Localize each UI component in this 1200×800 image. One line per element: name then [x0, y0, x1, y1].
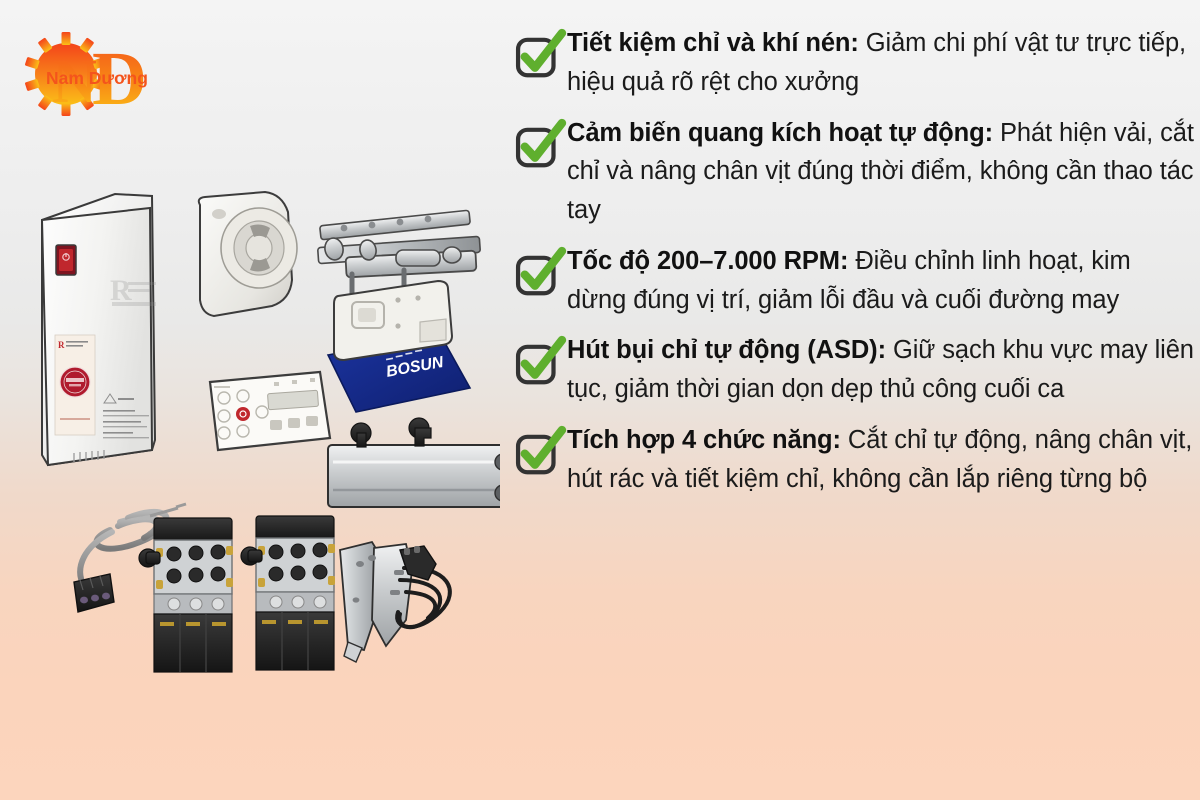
poster-canvas: D N Nam Dương [0, 0, 1200, 800]
svg-text:R: R [58, 340, 65, 350]
feature-lead: Tốc độ 200–7.000 RPM: [567, 247, 848, 275]
panel-display [268, 390, 319, 409]
operation-panel [210, 372, 330, 450]
feature-item: Tốc độ 200–7.000 RPM: Điều chỉnh linh ho… [505, 240, 1195, 320]
feature-text: Tốc độ 200–7.000 RPM: Điều chỉnh linh ho… [567, 240, 1195, 320]
solenoid-valve-b [241, 516, 335, 670]
control-box: R R [42, 194, 156, 465]
feature-item: Hút bụi chỉ tự động (ASD): Giữ sạch khu … [505, 329, 1195, 409]
green-check-icon [505, 246, 567, 302]
feature-lead: Tích hợp 4 chức năng: [567, 426, 841, 454]
feature-lead: Hút bụi chỉ tự động (ASD): [567, 336, 886, 364]
feature-item: Tích hợp 4 chức năng: Cắt chỉ tự động, n… [505, 419, 1195, 499]
feature-list: Tiết kiệm chỉ và khí nén: Giảm chi phí v… [505, 22, 1195, 782]
logo-wordmark: Nam Dương [46, 68, 148, 88]
feature-item: Cảm biến quang kích hoạt tự động: Phát h… [505, 112, 1195, 230]
feature-lead: Tiết kiệm chỉ và khí nén: [567, 29, 859, 57]
feature-text: Tiết kiệm chỉ và khí nén: Giảm chi phí v… [567, 22, 1195, 102]
feature-text: Cảm biến quang kích hoạt tự động: Phát h… [567, 112, 1195, 230]
green-check-icon [505, 118, 567, 174]
green-check-icon [505, 335, 567, 391]
feature-item: Tiết kiệm chỉ và khí nén: Giảm chi phí v… [505, 22, 1195, 102]
mounting-plates [340, 542, 412, 662]
green-check-icon [505, 28, 567, 84]
feature-text: Hút bụi chỉ tự động (ASD): Giữ sạch khu … [567, 329, 1195, 409]
brand-logo: D N Nam Dương [18, 22, 168, 122]
pneumatic-cylinder [328, 418, 500, 514]
feature-text: Tích hợp 4 chức năng: Cắt chỉ tự động, n… [567, 419, 1195, 499]
solenoid-valve-a [139, 518, 233, 672]
feature-lead: Cảm biến quang kích hoạt tự động: [567, 119, 993, 147]
green-check-icon [505, 425, 567, 481]
product-collage-image: R R [0, 150, 500, 690]
bosun-pouch: BOSUN [328, 281, 470, 412]
motor-cover [199, 192, 297, 316]
